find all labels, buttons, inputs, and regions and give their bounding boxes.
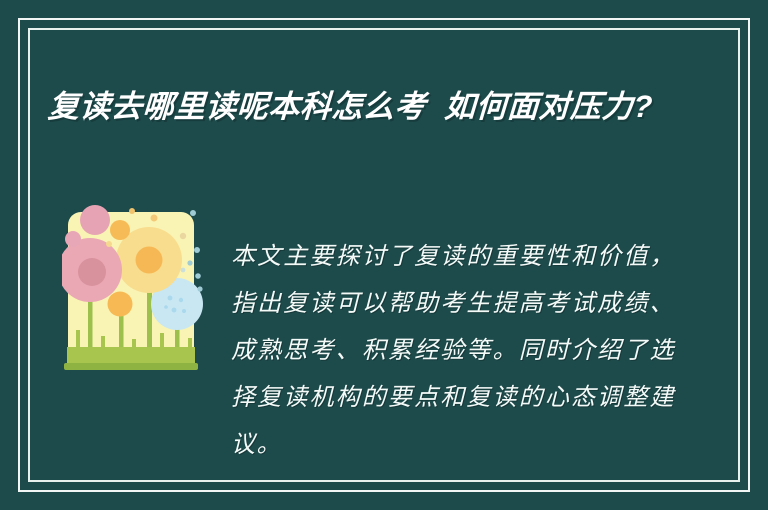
article-summary: 本文主要探讨了复读的重要性和价值，指出复读可以帮助考生提高考试成绩、成熟思考、积… <box>231 233 675 468</box>
flower-garden-illustration <box>62 203 205 378</box>
grass-base <box>64 363 198 370</box>
article-card: 复读去哪里读呢本科怎么考 如何面对压力? <box>0 0 768 510</box>
illustration-svg <box>62 203 205 378</box>
pink-small-flower <box>80 205 110 235</box>
pink-tiny-flower <box>65 231 81 247</box>
orange-small-flower <box>110 220 130 240</box>
orange-medium-flower <box>108 292 133 317</box>
grass-ground <box>67 347 195 365</box>
page-title: 复读去哪里读呢本科怎么考 如何面对压力? <box>47 83 690 131</box>
